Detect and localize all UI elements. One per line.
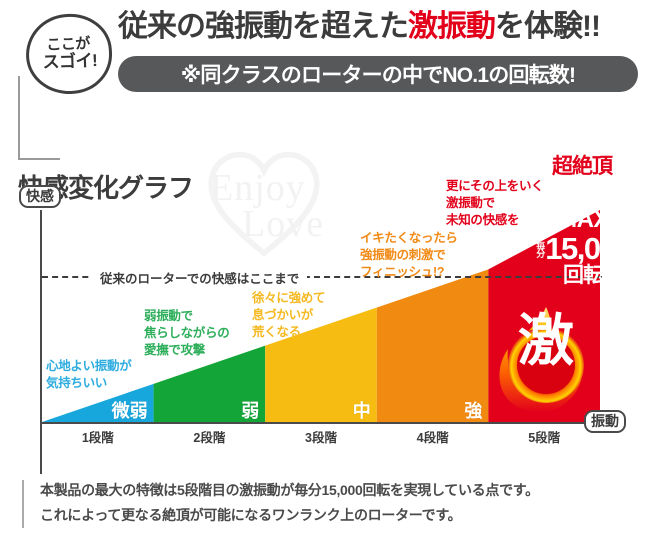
annotation-line: 強振動の刺激で bbox=[360, 247, 458, 264]
rpm-unit: 回転 bbox=[528, 265, 638, 286]
band-label-text: 強 bbox=[464, 402, 482, 420]
max-rpm-callout: MAX 毎分 15,000 回転 bbox=[528, 208, 638, 313]
headline-pre: 従来の強振動を超えた bbox=[118, 10, 408, 43]
band-label-text: 微弱 bbox=[112, 402, 148, 420]
x-tick-4: 4段階 bbox=[417, 427, 449, 446]
badge-line-2: スゴイ! bbox=[42, 52, 97, 72]
headline: 従来の強振動を超えた激振動を体験!! bbox=[118, 12, 638, 42]
annotation-line: イキたくなったら bbox=[360, 230, 458, 247]
pleasure-change-chart: 激 快感 振動 従来のローターでの快感はここまで 微弱弱中強 1段階2段階3段階… bbox=[0, 150, 650, 460]
annotation-2: 弱振動で焦らしながらの愛撫で攻撃 bbox=[144, 308, 229, 359]
band-label-4: 強 bbox=[377, 400, 489, 422]
annotation-3: 徐々に強めて息づかいが荒くなる… bbox=[252, 290, 325, 341]
per-minute-text: 毎分 bbox=[535, 241, 544, 257]
band-label-3: 中 bbox=[265, 400, 377, 422]
annotation-4: イキたくなったら強振動の刺激でフィニッシュ!? bbox=[360, 230, 458, 281]
x-tick-1: 1段階 bbox=[82, 427, 114, 446]
footer-text: 本製品の最大の特徴は5段階目の激振動が毎分15,000回転を実現している点です。… bbox=[40, 478, 640, 527]
band-label-text: 中 bbox=[353, 402, 371, 420]
footer-line-2: これによって更なる絶頂が可能になるワンランク上のローターです。 bbox=[40, 503, 640, 528]
x-axis-line bbox=[40, 422, 612, 424]
annotation-line: フィニッシュ!? bbox=[360, 264, 458, 281]
x-tick-5: 5段階 bbox=[528, 427, 560, 446]
footer-rule bbox=[22, 480, 24, 528]
headline-post: を体験!! bbox=[495, 10, 600, 43]
subheadline-bar: ※同クラスのローターの中でNO.1の回転数! bbox=[118, 56, 638, 92]
annotation-line: 弱振動で bbox=[144, 308, 229, 325]
peak-label: 超絶頂 bbox=[552, 150, 612, 180]
band-label-row: 微弱弱中強 bbox=[42, 400, 600, 422]
subheadline-text: ※同クラスのローターの中でNO.1の回転数! bbox=[181, 59, 575, 89]
x-tick-2: 2段階 bbox=[193, 427, 225, 446]
annotation-1: 心地よい振動が気持ちいい bbox=[46, 358, 131, 392]
rpm-number: 15,000 bbox=[545, 233, 631, 264]
rpm-row: 毎分 15,000 bbox=[528, 233, 638, 264]
annotation-line: 心地よい振動が bbox=[46, 358, 131, 375]
annotation-line: 更にその上をいく bbox=[446, 178, 543, 195]
band-label-text: 弱 bbox=[241, 402, 259, 420]
kokoga-sugoi-badge: ここが スゴイ! bbox=[23, 11, 114, 97]
annotation-line: 徐々に強めて bbox=[252, 290, 325, 307]
annotation-line: 焦らしながらの bbox=[144, 325, 229, 342]
max-text: MAX bbox=[528, 208, 638, 232]
footer: 本製品の最大の特徴は5段階目の激振動が毎分15,000回転を実現している点です。… bbox=[0, 478, 650, 548]
medallion-character: 激 bbox=[494, 313, 598, 369]
annotation-line: 気持ちいい bbox=[46, 375, 131, 392]
headline-highlight: 激振動 bbox=[408, 10, 495, 43]
annotation-line: 息づかいが bbox=[252, 307, 325, 324]
x-tick-3: 3段階 bbox=[305, 427, 337, 446]
header: ここが スゴイ! 従来の強振動を超えた激振動を体験!! ※同クラスのローターの中… bbox=[0, 0, 650, 110]
band-label-1: 微弱 bbox=[42, 400, 154, 422]
annotation-line: 愛撫で攻撃 bbox=[144, 342, 229, 359]
y-axis-label: 快感 bbox=[19, 185, 61, 208]
footer-line-1: 本製品の最大の特徴は5段階目の激振動が毎分15,000回転を実現している点です。 bbox=[40, 478, 640, 503]
reference-line-label: 従来のローターでの快感はここまで bbox=[92, 268, 307, 287]
band-label-2: 弱 bbox=[154, 400, 266, 422]
x-tick-row: 1段階2段階3段階4段階5段階 bbox=[42, 427, 614, 447]
annotation-line: 荒くなる… bbox=[252, 324, 325, 341]
